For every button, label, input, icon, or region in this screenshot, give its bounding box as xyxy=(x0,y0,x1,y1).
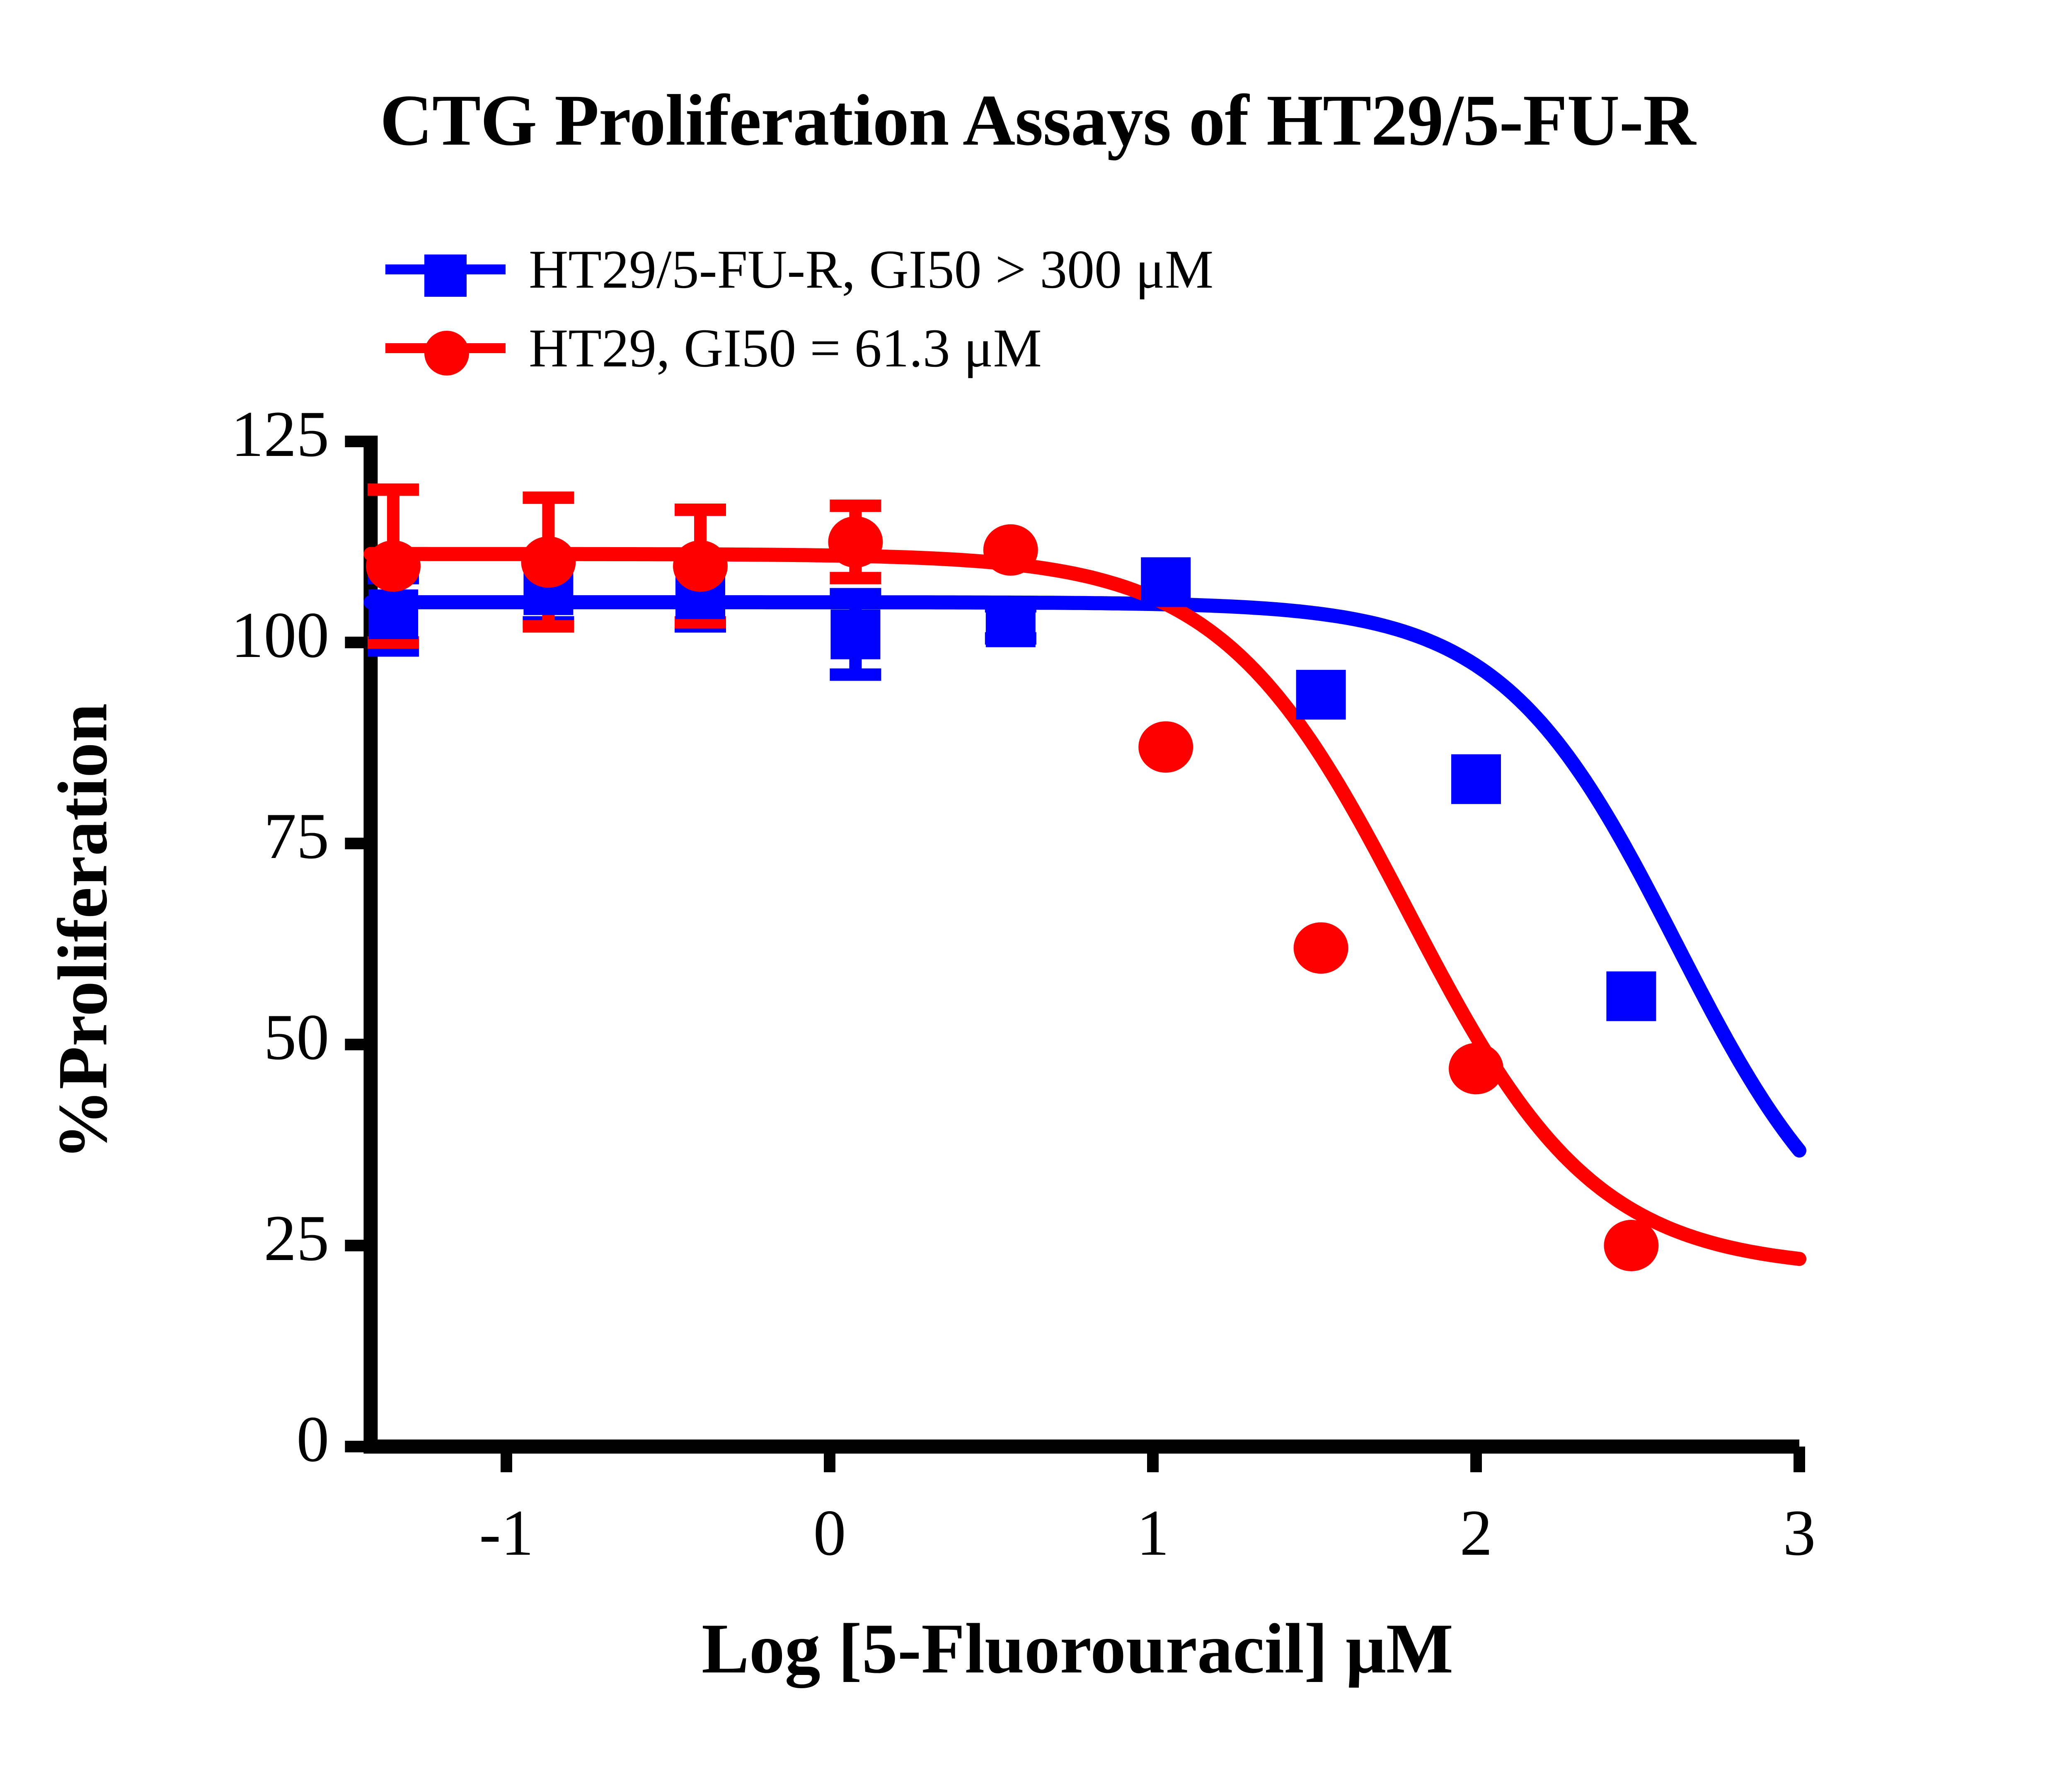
data-point-circle xyxy=(1138,721,1193,773)
fit-curve-red xyxy=(370,554,1799,1259)
y-tick-label: 75 xyxy=(56,799,329,874)
data-point-circle xyxy=(1449,1043,1503,1094)
y-tick-label: 0 xyxy=(56,1402,329,1477)
data-point-square xyxy=(1451,754,1501,804)
x-tick-label: 2 xyxy=(1372,1495,1580,1571)
data-point-square xyxy=(1296,670,1346,720)
data-point-circle xyxy=(366,540,421,592)
data-point-square xyxy=(1606,972,1656,1021)
y-tick-label: 125 xyxy=(56,397,329,472)
curve-red xyxy=(370,554,1799,1259)
x-tick-label: 0 xyxy=(726,1495,933,1571)
data-point-circle xyxy=(983,524,1038,576)
x-tick-label: 3 xyxy=(1696,1495,1903,1571)
data-point-square xyxy=(1141,557,1191,607)
data-point-square xyxy=(986,598,1036,647)
y-tick-label: 100 xyxy=(56,598,329,673)
data-point-circle xyxy=(1294,922,1348,974)
curve-blue xyxy=(370,602,1799,1151)
y-tick-label: 25 xyxy=(56,1201,329,1276)
x-tick-label: -1 xyxy=(403,1495,610,1571)
figure-root: CTG Proliferation Assays of HT29/5-FU-R … xyxy=(0,0,2072,1774)
data-point-square xyxy=(830,610,880,659)
y-tick-label: 50 xyxy=(56,1000,329,1075)
data-point-circle xyxy=(1604,1220,1658,1271)
data-point-circle xyxy=(521,536,576,588)
data-point-square xyxy=(368,589,418,639)
data-point-circle xyxy=(828,516,883,568)
axis-lines xyxy=(363,436,1799,1447)
x-tick-label: 1 xyxy=(1049,1495,1256,1571)
fit-curve-blue xyxy=(370,602,1799,1151)
data-point-circle xyxy=(673,540,728,592)
